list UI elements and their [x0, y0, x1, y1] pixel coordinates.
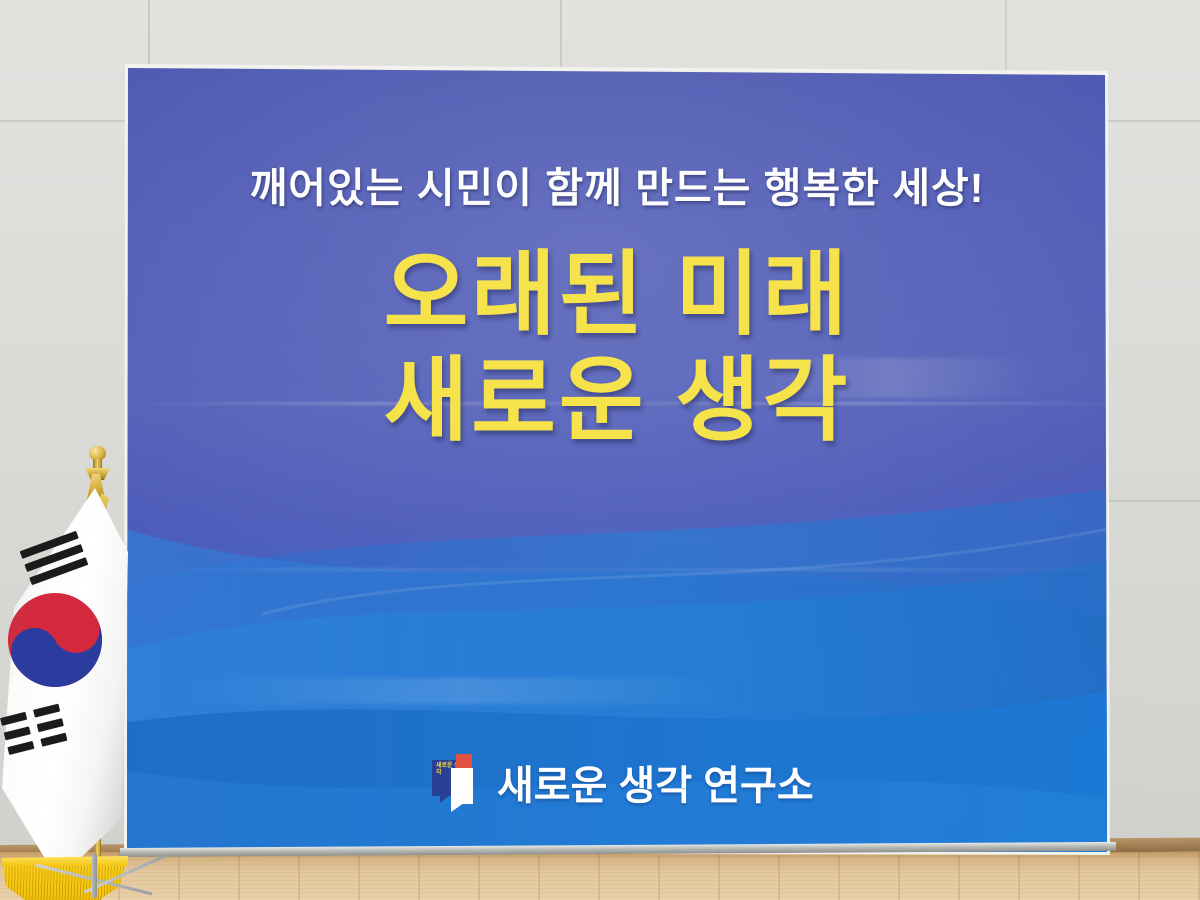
floor-grain-texture — [0, 852, 1200, 900]
organization-name: 새로운 생각 연구소 — [497, 753, 814, 811]
banner-crease-bottom — [182, 678, 742, 704]
banner-cloth: 깨어있는 시민이 함께 만드는 행복한 세상! 오래된 미래 새로운 생각 새로… — [122, 58, 1112, 858]
taegukgi-cloth — [0, 488, 130, 883]
korean-flag-unit — [0, 440, 180, 900]
banner-headline-line2: 새로운 생각 — [122, 326, 1112, 459]
flag-drape-shading — [0, 488, 130, 883]
banner-tagline: 깨어있는 시민이 함께 만드는 행복한 세상! — [122, 154, 1112, 214]
book-speech-bubble-icon: 새로운 생각 — [432, 754, 484, 810]
flag-stand-legs — [40, 832, 170, 900]
photo-scene: 깨어있는 시민이 함께 만드는 행복한 세상! 오래된 미래 새로운 생각 새로… — [0, 0, 1200, 900]
logo-page-shape — [451, 768, 473, 804]
logo-square-tail — [440, 795, 450, 803]
backdrop-banner: 깨어있는 시민이 함께 만드는 행복한 세상! 오래된 미래 새로운 생각 새로… — [122, 58, 1112, 858]
flag-stand-center-post — [92, 854, 97, 898]
banner-fold-crease-lower — [122, 568, 1112, 571]
wood-floor — [0, 852, 1200, 900]
organization-logo: 새로운 생각 새로운 생각 연구소 — [432, 748, 852, 816]
logo-page-tail — [451, 803, 464, 812]
